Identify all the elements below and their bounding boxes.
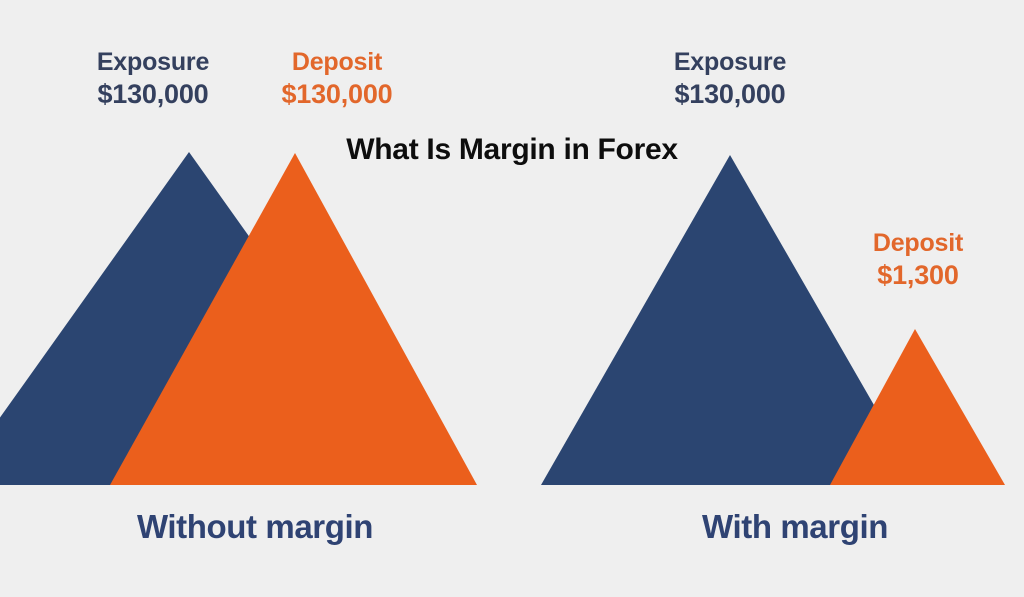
label-deposit-with-margin-value: $1,300 — [828, 259, 1008, 292]
label-deposit-with-margin-title: Deposit — [828, 228, 1008, 259]
label-exposure-without-margin: Exposure $130,000 — [60, 47, 246, 110]
label-deposit-without-margin-value: $130,000 — [244, 78, 430, 111]
label-exposure-without-margin-title: Exposure — [60, 47, 246, 78]
label-exposure-with-margin-value: $130,000 — [637, 78, 823, 111]
label-exposure-with-margin: Exposure $130,000 — [637, 47, 823, 110]
label-deposit-without-margin-title: Deposit — [244, 47, 430, 78]
label-deposit-with-margin: Deposit $1,300 — [828, 228, 1008, 291]
caption-with-margin: With margin — [600, 508, 990, 546]
margin-infographic: Exposure $130,000 Deposit $130,000 Expos… — [0, 0, 1024, 597]
caption-without-margin: Without margin — [60, 508, 450, 546]
label-exposure-without-margin-value: $130,000 — [60, 78, 246, 111]
label-exposure-with-margin-title: Exposure — [637, 47, 823, 78]
page-title: What Is Margin in Forex — [0, 133, 1024, 167]
label-deposit-without-margin: Deposit $130,000 — [244, 47, 430, 110]
